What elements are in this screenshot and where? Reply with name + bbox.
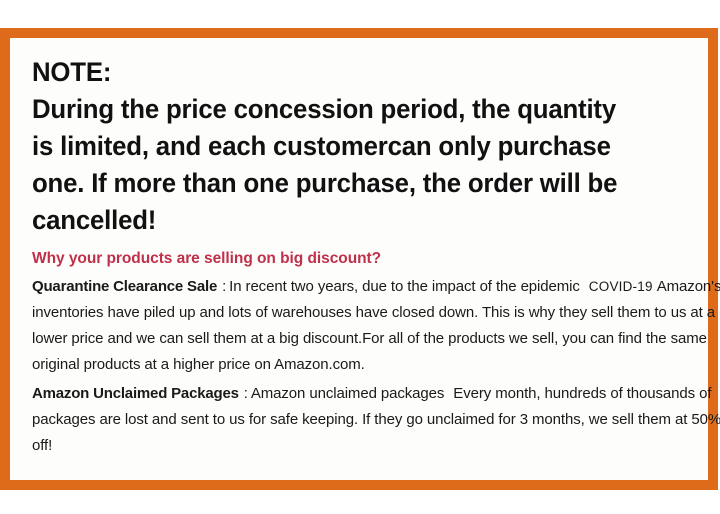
quarantine-clearance-paragraph: Quarantine Clearance Sale:In recent two … — [32, 274, 720, 378]
note-heading: NOTE: During the price concession period… — [32, 54, 678, 239]
unclaimed-packages-label: Amazon Unclaimed Packages — [32, 385, 239, 402]
heading-line-1: NOTE: — [32, 54, 678, 91]
quarantine-body-lead: In recent two years, due to the impact o… — [229, 278, 580, 295]
heading-line-3: is limited, and each customercan only pu… — [32, 128, 678, 165]
note-page: NOTE: During the price concession period… — [0, 0, 720, 514]
heading-line-2: During the price concession period, the … — [32, 91, 678, 128]
heading-line-5: cancelled! — [32, 202, 678, 239]
orange-note-frame: NOTE: During the price concession period… — [0, 28, 718, 490]
covid-19-label: COVID-19 — [589, 279, 653, 294]
note-content-area: NOTE: During the price concession period… — [10, 38, 708, 480]
unclaimed-body-lead: Amazon unclaimed packages — [251, 385, 444, 402]
quarantine-clearance-label: Quarantine Clearance Sale — [32, 278, 217, 295]
heading-line-4: one. If more than one purchase, the orde… — [32, 165, 678, 202]
discount-question-heading: Why your products are selling on big dis… — [32, 250, 708, 268]
unclaimed-colon: : — [239, 385, 251, 402]
unclaimed-packages-paragraph: Amazon Unclaimed Packages:Amazon unclaim… — [32, 381, 720, 459]
quarantine-colon: : — [217, 278, 229, 295]
